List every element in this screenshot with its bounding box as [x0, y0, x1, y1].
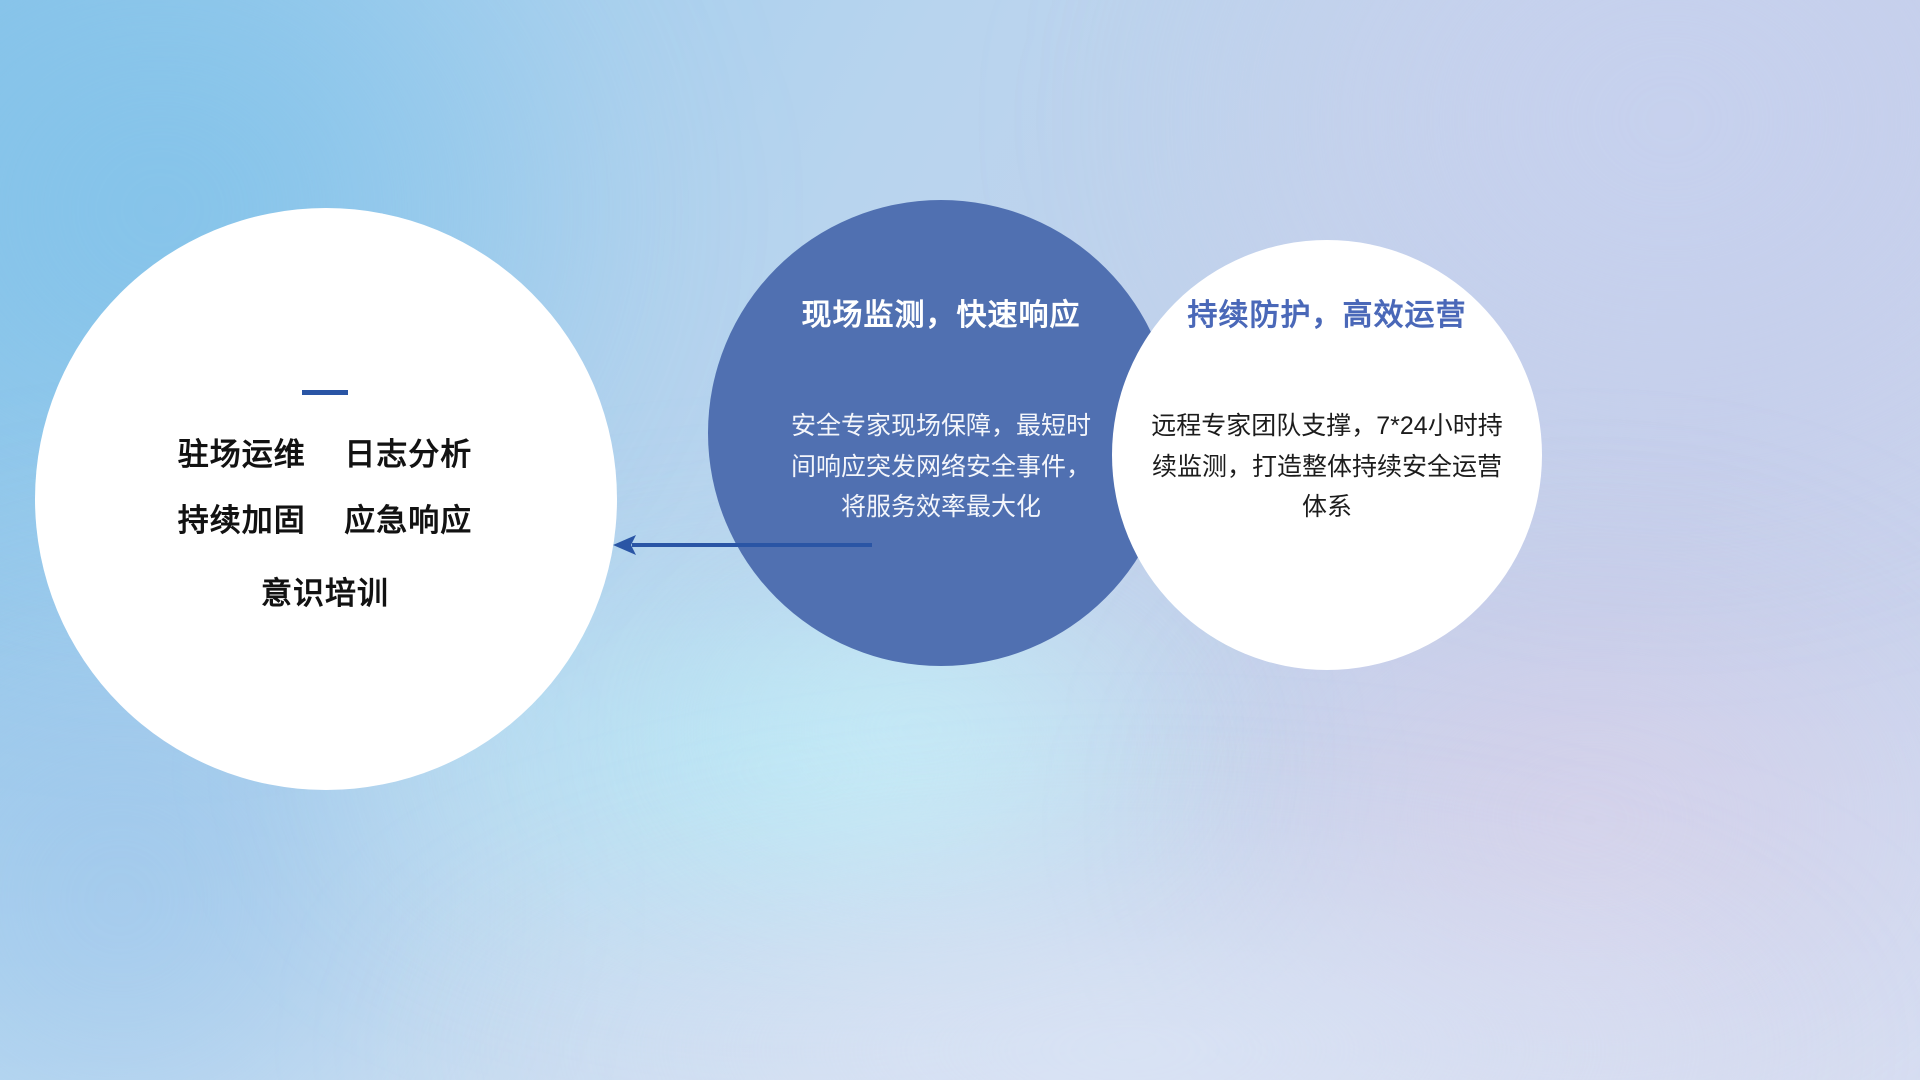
left-circle-line-3: 意识培训	[60, 578, 590, 609]
connector-arrow-left	[610, 528, 875, 562]
slide-canvas: 驻场运维 日志分析 持续加固 应急响应 意识培训 现场监测，快速响应 安全专家现…	[0, 0, 1920, 1080]
center-circle-title: 现场监测，快速响应	[712, 290, 1170, 334]
left-circle-line-2: 持续加固 应急响应	[60, 505, 590, 536]
center-blue-circle-content: 现场监测，快速响应 安全专家现场保障，最短时间响应突发网络安全事件，将服务效率最…	[712, 290, 1170, 528]
right-circle-content: 持续防护，高效运营 远程专家团队支撑，7*24小时持续监测，打造整体持续安全运营…	[1120, 290, 1534, 528]
left-circle-line-1: 驻场运维 日志分析	[60, 439, 590, 470]
right-circle-body: 远程专家团队支撑，7*24小时持续监测，打造整体持续安全运营体系	[1141, 406, 1513, 528]
arrow-icon	[610, 528, 875, 562]
right-circle-title: 持续防护，高效运营	[1120, 290, 1534, 334]
center-circle-body: 安全专家现场保障，最短时间响应突发网络安全事件，将服务效率最大化	[789, 406, 1094, 528]
left-circle-content: 驻场运维 日志分析 持续加固 应急响应 意识培训	[60, 390, 590, 609]
accent-dash-icon	[302, 390, 348, 395]
